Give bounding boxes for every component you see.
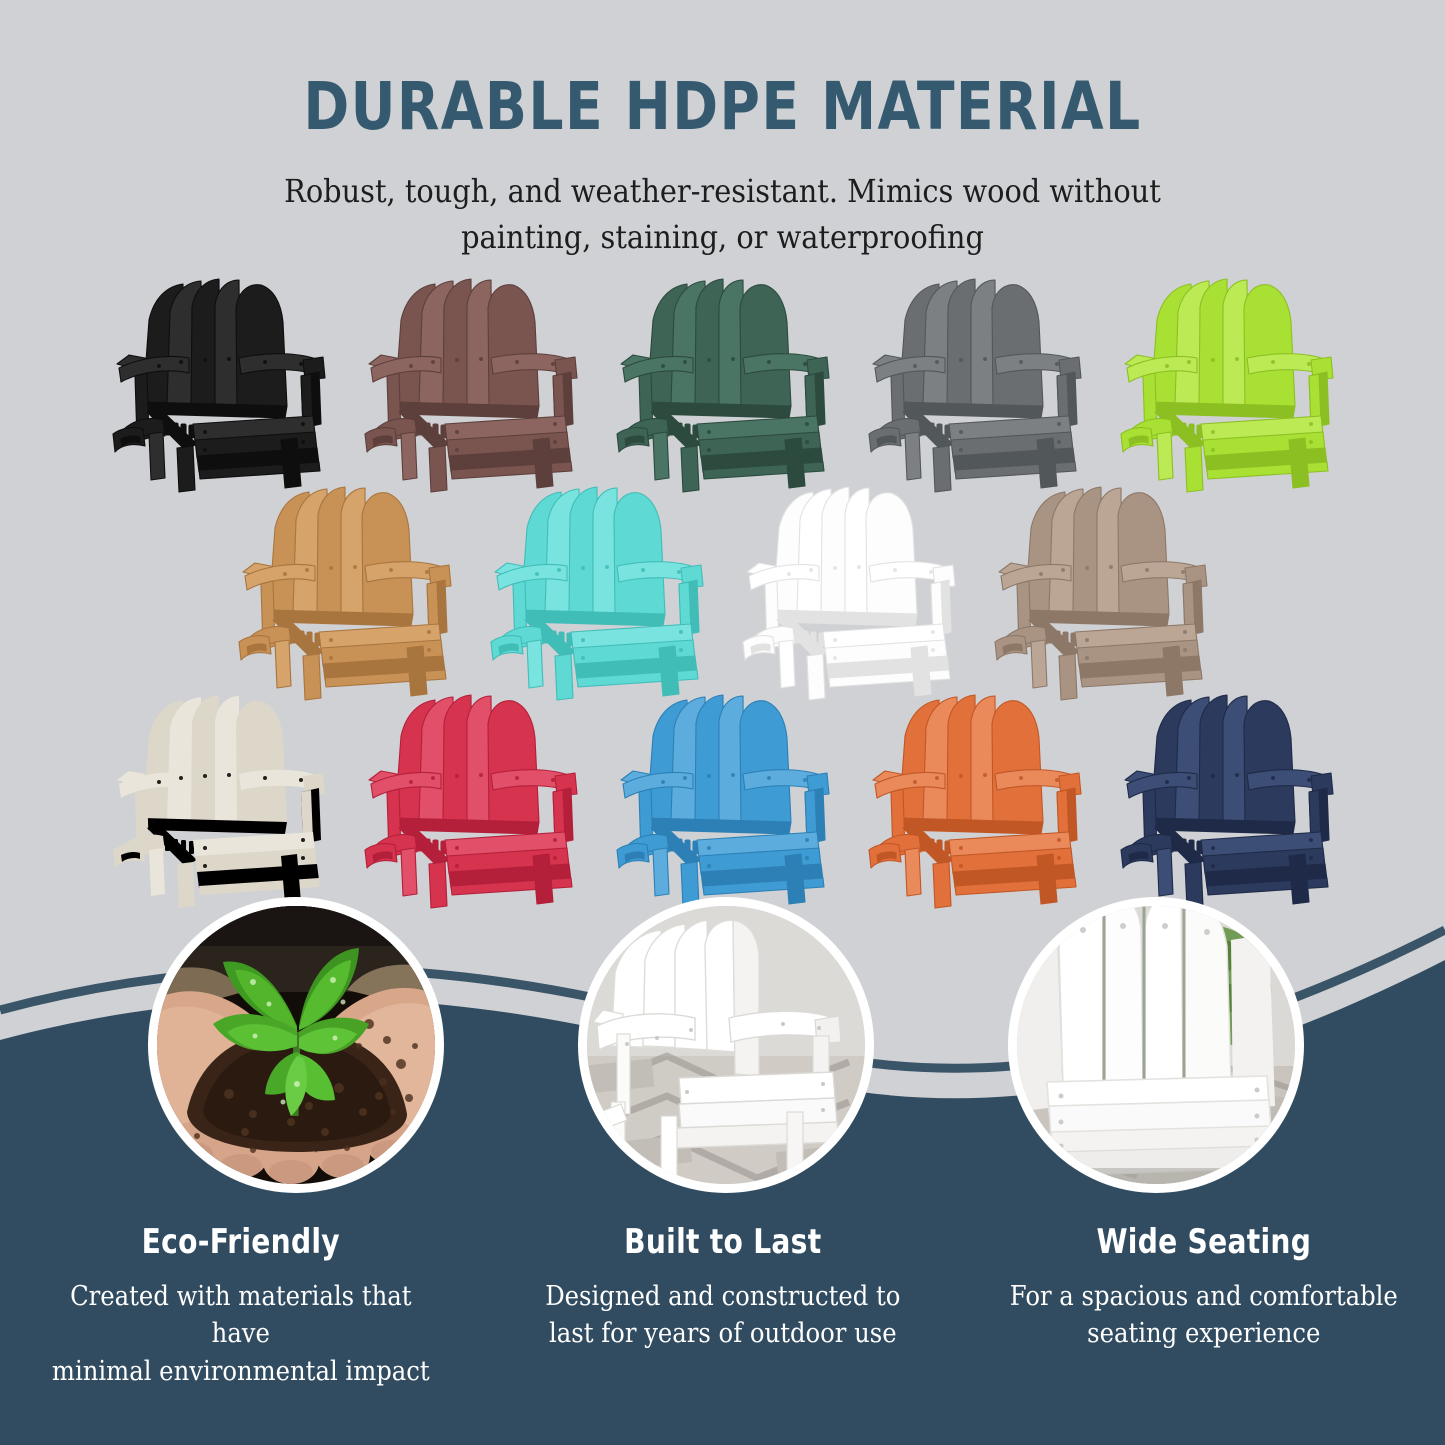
feature-desc-line-2: minimal environmental impact [46, 1353, 436, 1390]
infographic-canvas: DURABLE HDPE MATERIAL Robust, tough, and… [0, 0, 1445, 1445]
white-chair-wide-seat-closeup-photo [1017, 906, 1295, 1184]
white-chair-patio-icon [587, 906, 865, 1184]
feature-title: Built to Last [523, 1222, 922, 1262]
hands-holding-seedling-icon [157, 906, 435, 1184]
feature-desc-line-1: For a spacious and comfortable [1009, 1278, 1399, 1315]
feature-title: Eco-Friendly [41, 1222, 440, 1262]
feature-built-to-last: Built to Last Designed and constructed t… [482, 1222, 964, 1390]
feature-desc-line-1: Created with materials that have [46, 1278, 436, 1353]
feature-photo-wide-seating [1008, 897, 1304, 1193]
feature-wide-seating: Wide Seating For a spacious and comforta… [963, 1222, 1445, 1390]
hands-holding-seedling-photo [157, 906, 435, 1184]
feature-desc-line-2: seating experience [1009, 1315, 1399, 1352]
feature-desc-line-2: last for years of outdoor use [527, 1315, 917, 1352]
feature-photo-eco-friendly [148, 897, 444, 1193]
white-adirondack-chair-on-patio-photo [587, 906, 865, 1184]
feature-description: For a spacious and comfortable seating e… [1009, 1278, 1399, 1353]
feature-captions: Eco-Friendly Created with materials that… [0, 1222, 1445, 1390]
feature-photo-built-to-last [578, 897, 874, 1193]
feature-eco-friendly: Eco-Friendly Created with materials that… [0, 1222, 482, 1390]
feature-desc-line-1: Designed and constructed to [527, 1278, 917, 1315]
feature-description: Created with materials that have minimal… [46, 1278, 436, 1390]
white-chair-seat-closeup-icon [1017, 906, 1295, 1184]
feature-title: Wide Seating [1005, 1222, 1404, 1262]
feature-description: Designed and constructed to last for yea… [527, 1278, 917, 1353]
